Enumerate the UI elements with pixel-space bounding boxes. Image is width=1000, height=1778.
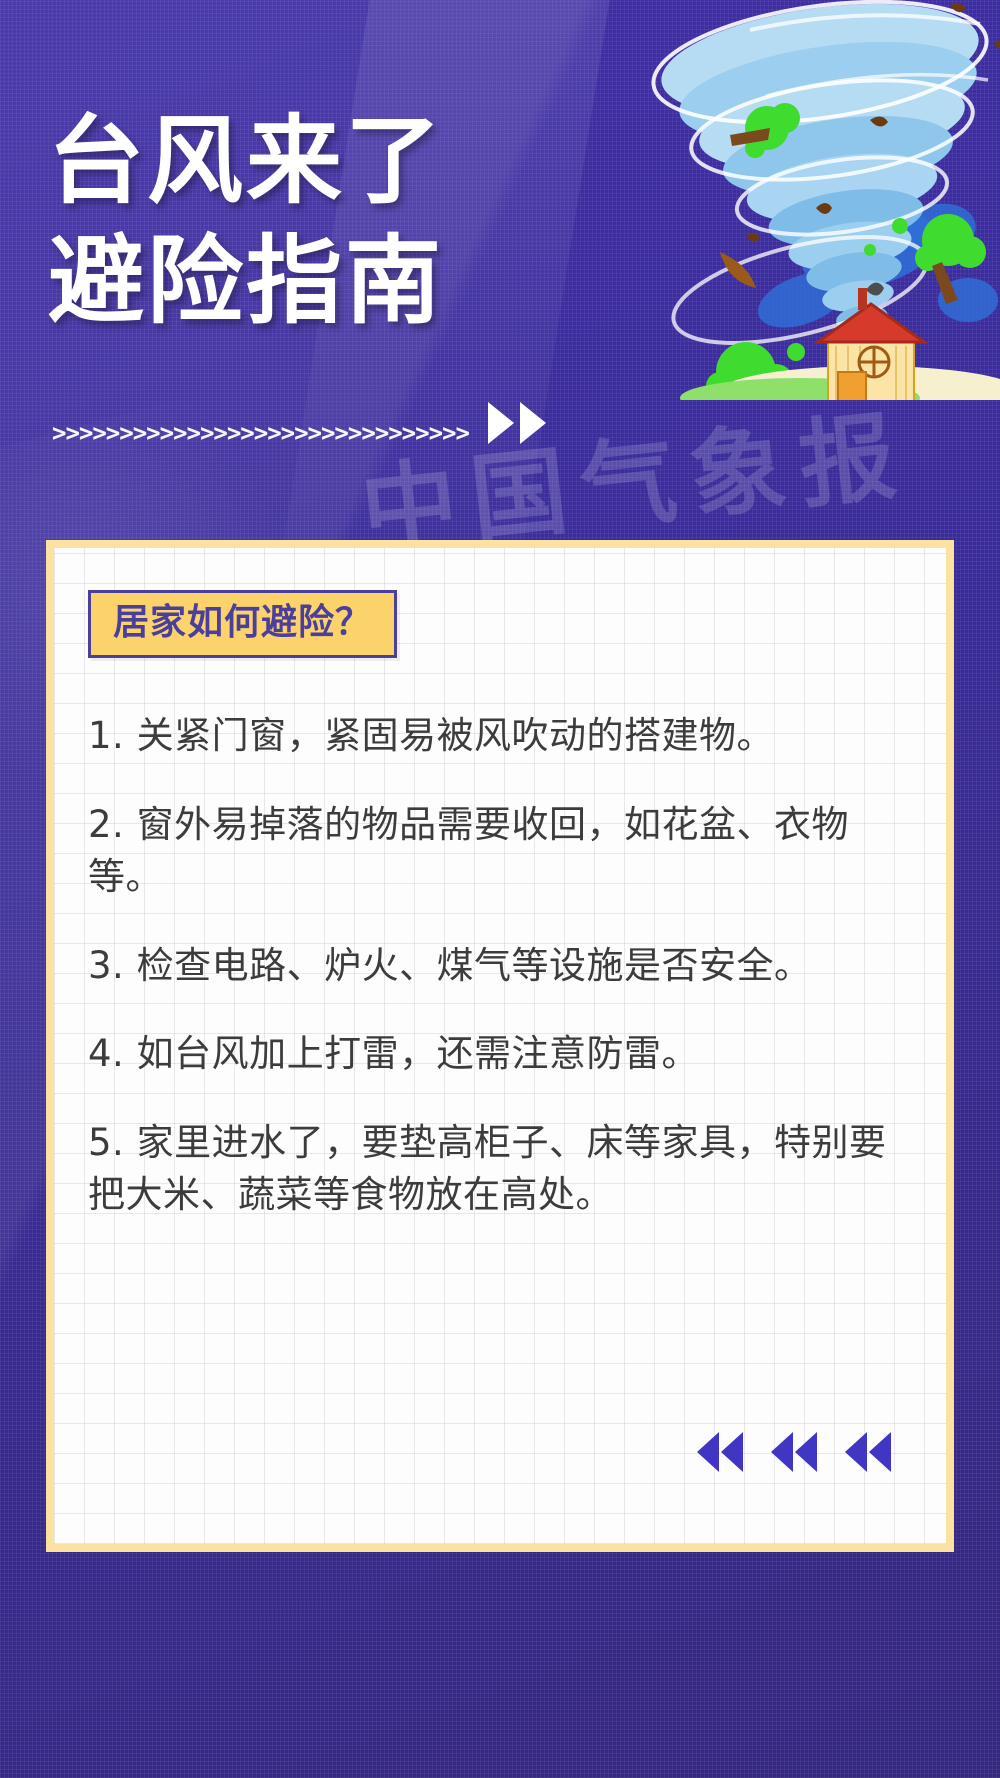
tips-list: 1. 关紧门窗，紧固易被风吹动的搭建物。 2. 窗外易掉落的物品需要收回，如花盆… bbox=[88, 710, 912, 1222]
list-item: 3. 检查电路、炉火、煤气等设施是否安全。 bbox=[88, 940, 912, 993]
rewind-arrow-icon bbox=[694, 1430, 746, 1474]
rewind-arrow-icon bbox=[842, 1430, 894, 1474]
poster-root: 中国气象报 bbox=[0, 0, 1000, 1778]
play-arrow-icon bbox=[486, 400, 516, 446]
rewind-arrows-group bbox=[694, 1430, 894, 1474]
list-item: 5. 家里进水了，要垫高柜子、床等家具，特别要把大米、蔬菜等食物放在高处。 bbox=[88, 1117, 912, 1222]
headline-line-1: 台风来了 bbox=[48, 110, 648, 214]
section-title: 居家如何避险？ bbox=[88, 590, 397, 658]
list-item: 4. 如台风加上打雷，还需注意防雷。 bbox=[88, 1028, 912, 1081]
list-item: 1. 关紧门窗，紧固易被风吹动的搭建物。 bbox=[88, 710, 912, 763]
rewind-arrow-icon bbox=[768, 1430, 820, 1474]
play-arrows-group bbox=[486, 400, 548, 446]
play-arrow-icon bbox=[518, 400, 548, 446]
list-item: 2. 窗外易掉落的物品需要收回，如花盆、衣物等。 bbox=[88, 799, 912, 904]
chevron-run-icon: >>>>>>>>>>>>>>>>>>>>>>>>>>>>>>> bbox=[52, 421, 469, 445]
chevron-divider: >>>>>>>>>>>>>>>>>>>>>>>>>>>>>>> bbox=[52, 412, 552, 454]
content-card: 居家如何避险？ 1. 关紧门窗，紧固易被风吹动的搭建物。 2. 窗外易掉落的物品… bbox=[46, 540, 954, 1552]
page-title: 台风来了 避险指南 bbox=[48, 110, 648, 333]
headline-line-2: 避险指南 bbox=[48, 230, 648, 334]
